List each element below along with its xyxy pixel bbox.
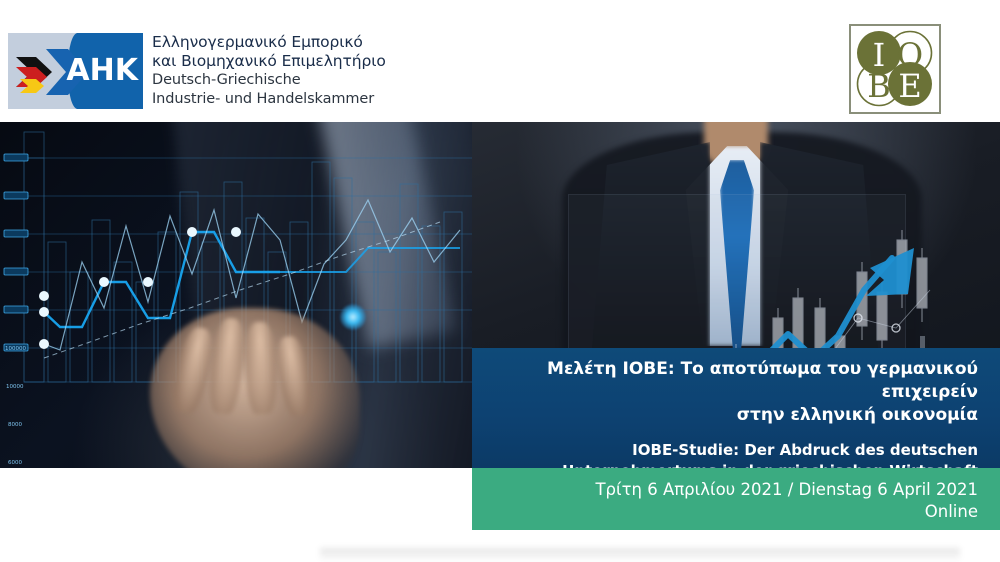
y-axis-tick-6000: 6000: [8, 460, 22, 466]
iobe-logo: I O B E: [849, 24, 941, 114]
title-greek-line-2: στην ελληνική οικονομία: [498, 404, 978, 427]
iobe-logo-circles: I O B E: [851, 26, 939, 112]
ahk-logo: AHK: [8, 33, 143, 109]
bottom-shadow: [320, 548, 960, 562]
title-greek-line-1: Μελέτη ΙΟΒΕ: Το αποτύπωμα του γερμανικού…: [498, 358, 978, 404]
title-band: Μελέτη ΙΟΒΕ: Το αποτύπωμα του γερμανικού…: [472, 348, 1000, 468]
left-image-touch-glow: [340, 304, 366, 330]
page-header: AHK Ελληνογερμανικό Εμπορικό και Βιομηχα…: [0, 0, 1000, 122]
y-axis-tick-8000: 8000: [8, 422, 22, 428]
ahk-name-line-1: Ελληνογερμανικό Εμπορικό: [152, 33, 452, 52]
title-german-line-1: IOBE-Studie: Der Abdruck des deutschen: [498, 440, 978, 461]
svg-text:B: B: [867, 67, 891, 105]
svg-text:E: E: [898, 67, 921, 105]
y-axis-tick-100000: 100000: [5, 346, 26, 352]
event-date: Τρίτη 6 Απριλίου 2021 / Dienstag 6 April…: [498, 478, 978, 501]
event-location: Online: [498, 501, 978, 523]
ahk-organisation-name: Ελληνογερμανικό Εμπορικό και Βιομηχανικό…: [152, 33, 452, 109]
y-axis-tick-10000: 10000: [6, 384, 24, 390]
ahk-name-line-2: και Βιομηχανικό Επιμελητήριο: [152, 52, 452, 71]
ahk-logo-wordmark: AHK: [66, 56, 138, 86]
ahk-name-line-4: Industrie- und Handelskammer: [152, 90, 452, 109]
left-hero-image: 100000 10000 8000 6000 4000 2000 Jan Feb…: [0, 122, 472, 468]
ahk-name-line-3: Deutsch-Griechische: [152, 71, 452, 90]
date-band: Τρίτη 6 Απριλίου 2021 / Dienstag 6 April…: [472, 468, 1000, 530]
